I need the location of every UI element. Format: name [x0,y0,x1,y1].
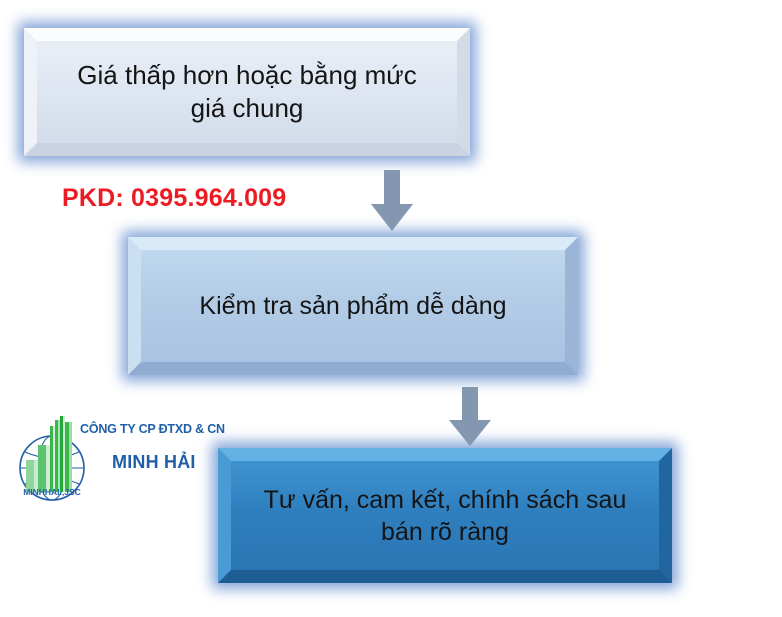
logo-wordmark: CÔNG TY CP ĐTXD & CN MINH HẢI [80,422,215,473]
process-box-step-2[interactable]: Kiểm tra sản phẩm dễ dàng [128,237,578,375]
logo-mark-caption: MINHHAI.,JSC [23,487,81,497]
buildings-icon [26,416,72,492]
arrow-down-icon-1 [370,170,414,232]
process-box-step-1[interactable]: Giá thấp hơn hoặc bằng mức giá chung [24,28,470,156]
arrow-down-icon-2 [448,387,492,447]
contact-phone-text: PKD: 0395.964.009 [62,184,286,213]
slide-canvas: Giá thấp hơn hoặc bằng mức giá chung PKD… [0,0,782,617]
process-box-step-3-label: Tư vấn, cam kết, chính sách sau bán rõ r… [248,484,643,548]
company-logo[interactable]: MINHHAI.,JSC CÔNG TY CP ĐTXD & CN MINH H… [8,412,213,507]
process-box-step-2-label: Kiểm tra sản phẩm dễ dàng [183,290,522,322]
process-box-step-3[interactable]: Tư vấn, cam kết, chính sách sau bán rõ r… [218,448,672,583]
process-box-step-1-label: Giá thấp hơn hoặc bằng mức giá chung [61,59,432,126]
logo-company-line-1: CÔNG TY CP ĐTXD & CN [80,422,215,436]
logo-company-line-2: MINH HẢI [112,452,215,473]
